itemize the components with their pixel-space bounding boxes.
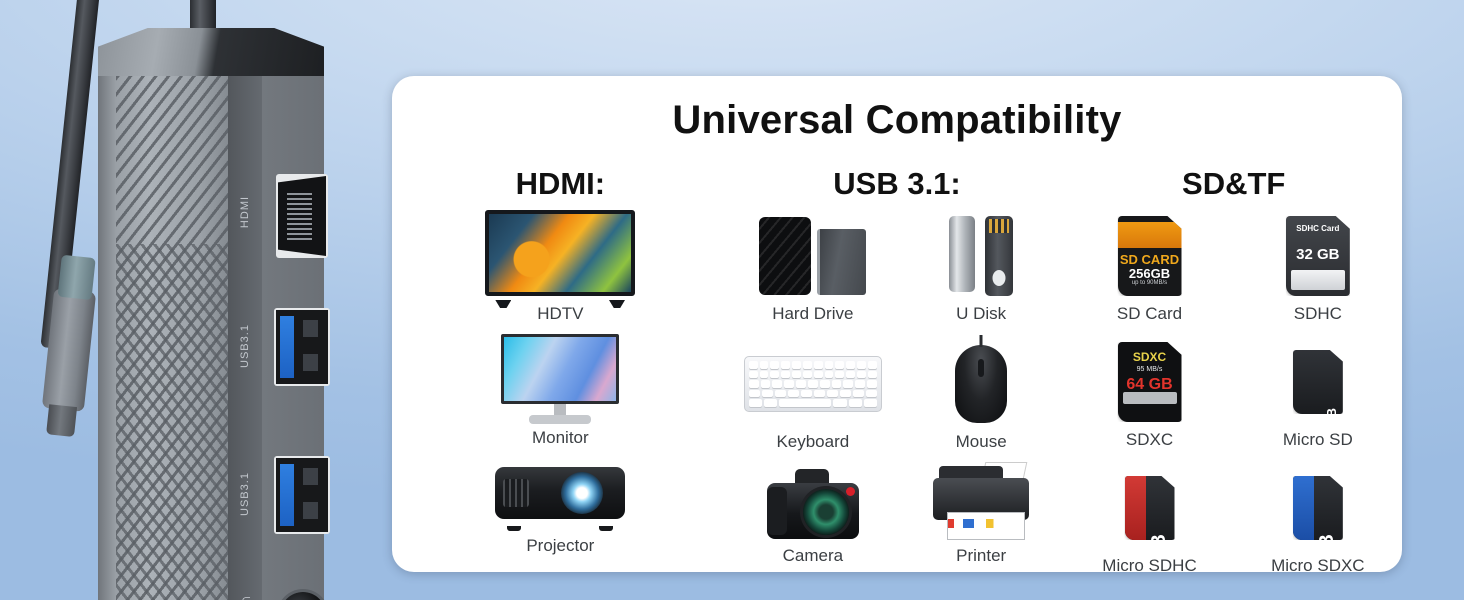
projector-icon <box>392 462 729 532</box>
sd-row-1: SD CARD 256GB up to 90MB/s SD Card SDHC … <box>1065 212 1402 324</box>
item-hdtv: HDTV <box>392 212 729 324</box>
usb-row-1: Hard Drive U Disk <box>729 212 1066 324</box>
micro-sdxc-capacity: 32 GB <box>1316 534 1339 540</box>
sdxc-card-icon: SDXC 95 MB/s 64 GB <box>1065 338 1233 426</box>
product-photo: HDMI USB3.1 USB3.1 ∩ <box>0 0 340 600</box>
column-header-sdtf: SD&TF <box>1065 166 1402 202</box>
printer-icon <box>897 466 1065 542</box>
item-u-disk: U Disk <box>897 212 1065 324</box>
hdmi-row-1: HDTV <box>392 212 729 324</box>
mouse-icon <box>897 340 1065 428</box>
hdtv-icon <box>392 212 729 300</box>
column-sdtf: SD&TF SD CARD 256GB up to 90MB/s SD Card <box>1065 166 1402 576</box>
column-hdmi: HDMI: HDTV Monitor <box>392 166 729 576</box>
item-sdhc: SDHC Card 32 GB SDHC <box>1234 212 1402 324</box>
hdmi-row-2: Monitor <box>392 336 729 448</box>
sd-card-type: SD CARD <box>1118 252 1182 267</box>
caption-micro-sdxc: Micro SDXC <box>1234 556 1402 576</box>
caption-camera: Camera <box>729 546 897 566</box>
caption-sd-card: SD Card <box>1065 304 1233 324</box>
docking-station: HDMI USB3.1 USB3.1 ∩ <box>98 28 324 600</box>
micro-sd-capacity: 16GB <box>1324 408 1339 414</box>
dock-textured-face <box>116 76 228 600</box>
audio-jack-port <box>280 592 326 600</box>
micro-sdhc-icon: 32 GB <box>1065 464 1233 552</box>
column-usb: USB 3.1: Hard Drive U Disk <box>729 166 1066 576</box>
compatibility-columns: HDMI: HDTV Monitor <box>392 166 1402 576</box>
item-micro-sdxc: 32 GB Micro SDXC <box>1234 464 1402 576</box>
sd-row-2: SDXC 95 MB/s 64 GB SDXC 16GB <box>1065 338 1402 450</box>
usb-row-3: Camera Printer <box>729 466 1066 566</box>
caption-projector: Projector <box>392 536 729 556</box>
sdhc-card-icon: SDHC Card 32 GB <box>1234 212 1402 300</box>
item-keyboard: Keyboard <box>729 340 897 452</box>
caption-u-disk: U Disk <box>897 304 1065 324</box>
caption-mouse: Mouse <box>897 432 1065 452</box>
usb-port-icon-2 <box>274 456 330 534</box>
port-label-usb31-2: USB3.1 <box>239 463 251 525</box>
sdxc-card-speed: 95 MB/s <box>1118 366 1182 373</box>
item-projector: Projector <box>392 462 729 556</box>
column-header-hdmi: HDMI: <box>392 166 729 202</box>
micro-sdhc-capacity: 32 GB <box>1148 534 1171 540</box>
item-micro-sdhc: 32 GB Micro SDHC <box>1065 464 1233 576</box>
sdhc-card-type: SDHC Card <box>1286 224 1350 233</box>
port-label-hdmi: HDMI <box>239 181 251 243</box>
item-sd-card: SD CARD 256GB up to 90MB/s SD Card <box>1065 212 1233 324</box>
micro-sd-card-icon: 16GB MICRO SD <box>1234 338 1402 426</box>
sdxc-card-type: SDXC <box>1118 350 1182 364</box>
item-sdxc: SDXC 95 MB/s 64 GB SDXC <box>1065 338 1233 450</box>
caption-sdxc: SDXC <box>1065 430 1233 450</box>
caption-monitor: Monitor <box>392 428 729 448</box>
caption-printer: Printer <box>897 546 1065 566</box>
keyboard-icon <box>729 340 897 428</box>
micro-sd-type: MICRO SD <box>1293 350 1295 390</box>
dock-body: HDMI USB3.1 USB3.1 ∩ <box>98 76 324 600</box>
caption-sdhc: SDHC <box>1234 304 1402 324</box>
column-header-usb: USB 3.1: <box>729 166 1066 202</box>
sd-card-icon: SD CARD 256GB up to 90MB/s <box>1065 212 1233 300</box>
item-hard-drive: Hard Drive <box>729 212 897 324</box>
sd-row-3: 32 GB Micro SDHC 32 GB Micro SDXC <box>1065 464 1402 576</box>
dock-port-face: HDMI USB3.1 USB3.1 ∩ <box>228 76 324 600</box>
hard-drive-icon <box>729 212 897 300</box>
port-label-usb31-1: USB3.1 <box>239 315 251 377</box>
micro-sdxc-icon: 32 GB <box>1234 464 1402 552</box>
sd-card-capacity: 256GB <box>1118 266 1182 281</box>
item-micro-sd: 16GB MICRO SD Micro SD <box>1234 338 1402 450</box>
item-mouse: Mouse <box>897 340 1065 452</box>
infographic-canvas: HDMI USB3.1 USB3.1 ∩ Universal Compatibi… <box>0 0 1464 600</box>
caption-hard-drive: Hard Drive <box>729 304 897 324</box>
caption-keyboard: Keyboard <box>729 432 897 452</box>
diagonal-texture-secondary <box>116 244 228 600</box>
usb-port-icon-1 <box>274 308 330 386</box>
item-camera: Camera <box>729 466 897 566</box>
usb-row-2: Keyboard Mouse <box>729 340 1066 452</box>
monitor-icon <box>392 336 729 424</box>
sdhc-card-capacity: 32 GB <box>1286 246 1350 263</box>
dock-left-edge <box>98 76 116 600</box>
caption-micro-sdhc: Micro SDHC <box>1065 556 1233 576</box>
item-printer: Printer <box>897 466 1065 566</box>
headphone-jack-icon: ∩ <box>237 595 254 600</box>
item-monitor: Monitor <box>392 336 729 448</box>
usb-flash-drive-icon <box>897 212 1065 300</box>
compatibility-panel: Universal Compatibility HDMI: HDTV <box>392 76 1402 572</box>
hdmi-row-3: Projector <box>392 462 729 556</box>
sd-card-speed: up to 90MB/s <box>1118 280 1182 286</box>
camera-icon <box>729 466 897 542</box>
hdmi-port-icon <box>276 174 328 258</box>
caption-micro-sd: Micro SD <box>1234 430 1402 450</box>
panel-title: Universal Compatibility <box>392 98 1402 143</box>
